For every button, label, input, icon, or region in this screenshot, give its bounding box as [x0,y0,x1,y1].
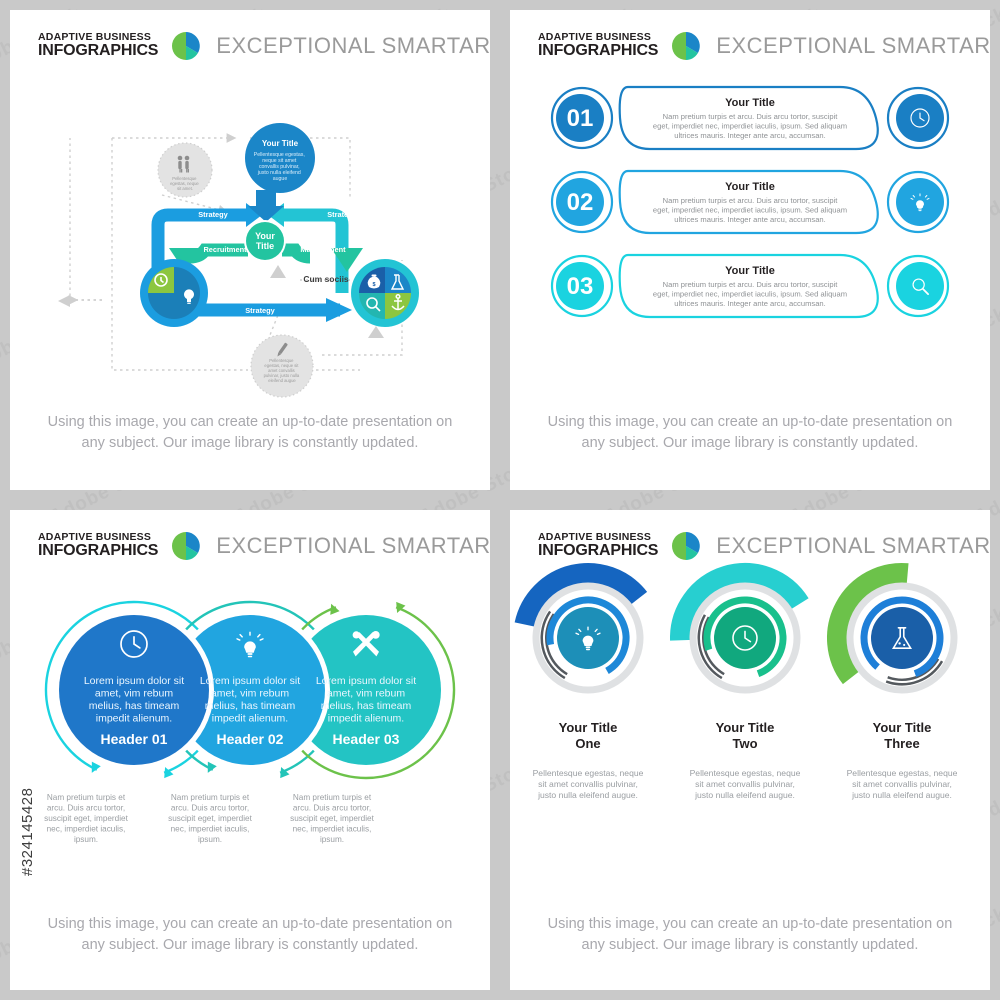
hub-node[interactable]: YourTitle [244,220,286,262]
step-title: Your Title [725,181,775,193]
donut-title-line2: Three [884,736,919,751]
step-number: 01 [567,105,594,132]
node-top[interactable]: Your Title Pellentesque egestas, neque s… [245,123,315,193]
ring-arrowhead [203,762,216,775]
label-recruitment: Recruitment [203,245,247,254]
panel-numbered-steps: ADAPTIVE BUSINESS INFOGRAPHICS EXCEPTION… [510,10,990,490]
panel-process-flow: ADAPTIVE BUSINESS INFOGRAPHICS EXCEPTION… [10,10,490,490]
svg-text:$: $ [372,282,375,288]
step-body: Nam pretium turpis et arcu. Duis arcu to… [653,280,847,308]
circle-header: Header 01 [101,731,168,747]
circle-column-text: Nam pretium turpis etarcu. Duis arcu tor… [290,793,374,844]
stock-id-watermark: #324145428 [19,788,36,876]
panel-caption: Using this image, you can create an up-t… [10,412,490,454]
wheel-left[interactable] [140,259,208,327]
hub-label: YourTitle [255,231,275,251]
infographic-grid: ADAPTIVE BUSINESS INFOGRAPHICS EXCEPTION… [0,0,1000,1000]
step-body: Nam pretium turpis et arcu. Duis arcu to… [653,196,847,224]
label-strategy-right: Strategy [327,210,357,219]
donut-title-line1: Your Title [873,720,932,735]
ring-arrowhead [392,602,405,615]
step-title: Your Title [725,265,775,277]
donut-title-line2: Two [732,736,757,751]
step-row[interactable]: 02Your TitleNam pretium turpis et arcu. … [552,171,948,233]
donut-body: Pellentesque egestas, nequesit amet conv… [847,768,958,800]
label-management: Management [300,245,346,254]
step-title: Your Title [725,97,775,109]
circle-column-text: Nam pretium turpis etarcu. Duis arcu tor… [168,793,252,844]
donut-title-line1: Your Title [559,720,618,735]
label-strategy-bottom: Strategy [245,306,275,315]
circle-header: Header 03 [333,731,400,747]
circle-header: Header 02 [217,731,284,747]
ring-arrowhead [160,765,173,778]
circle-body: Lorem ipsum dolor sitamet, vim rebummeli… [200,675,300,725]
step-icon-disc[interactable] [896,262,944,310]
ghost-node-people[interactable]: Pellentesque egestas, neque sit amet. [158,143,212,197]
ring-arrowhead [276,765,289,778]
donut-title-line2: One [575,736,600,751]
ring-arrowhead [87,762,100,775]
ghost-node-pencil[interactable]: Pellentesque egestas, neque sit amet con… [251,335,313,397]
side-note-label: Cum sociis [303,274,349,284]
wheel-right[interactable]: $ [351,259,419,327]
donut-title-line1: Your Title [716,720,775,735]
donut-center-disc [871,607,933,669]
circle-body: Lorem ipsum dolor sitamet, vim rebummeli… [84,675,184,725]
ring-arrowhead [327,602,340,615]
panel-caption: Using this image, you can create an up-t… [510,412,990,454]
circle-body: Lorem ipsum dolor sitamet, vim rebummeli… [316,675,416,725]
label-strategy-left: Strategy [198,210,228,219]
panel-caption: Using this image, you can create an up-t… [10,914,490,956]
step-row[interactable]: 03Your TitleNam pretium turpis et arcu. … [552,255,948,317]
node-top-title: Your Title [262,139,299,148]
step-number: 03 [567,273,594,300]
donut-body: Pellentesque egestas, nequesit amet conv… [533,768,644,800]
bottom-arrowhead [326,298,352,322]
step-body: Nam pretium turpis et arcu. Duis arcu to… [653,112,847,140]
donut-item[interactable]: Your TitleOnePellentesque egestas, neque… [527,576,643,800]
step-row[interactable]: 01Your TitleNam pretium turpis et arcu. … [552,87,948,149]
donut-item[interactable]: Your TitleTwoPellentesque egestas, neque… [683,576,801,800]
step-number: 02 [567,189,594,216]
panel-donut-gauges: ADAPTIVE BUSINESS INFOGRAPHICS EXCEPTION… [510,510,990,990]
circle-column-text: Nam pretium turpis etarcu. Duis arcu tor… [44,793,128,844]
panel-overlapping-circles: ADAPTIVE BUSINESS INFOGRAPHICS EXCEPTION… [10,510,490,990]
panel-caption: Using this image, you can create an up-t… [510,914,990,956]
donut-body: Pellentesque egestas, nequesit amet conv… [690,768,801,800]
donut-item[interactable]: Your TitleThreePellentesque egestas, neq… [840,576,958,800]
